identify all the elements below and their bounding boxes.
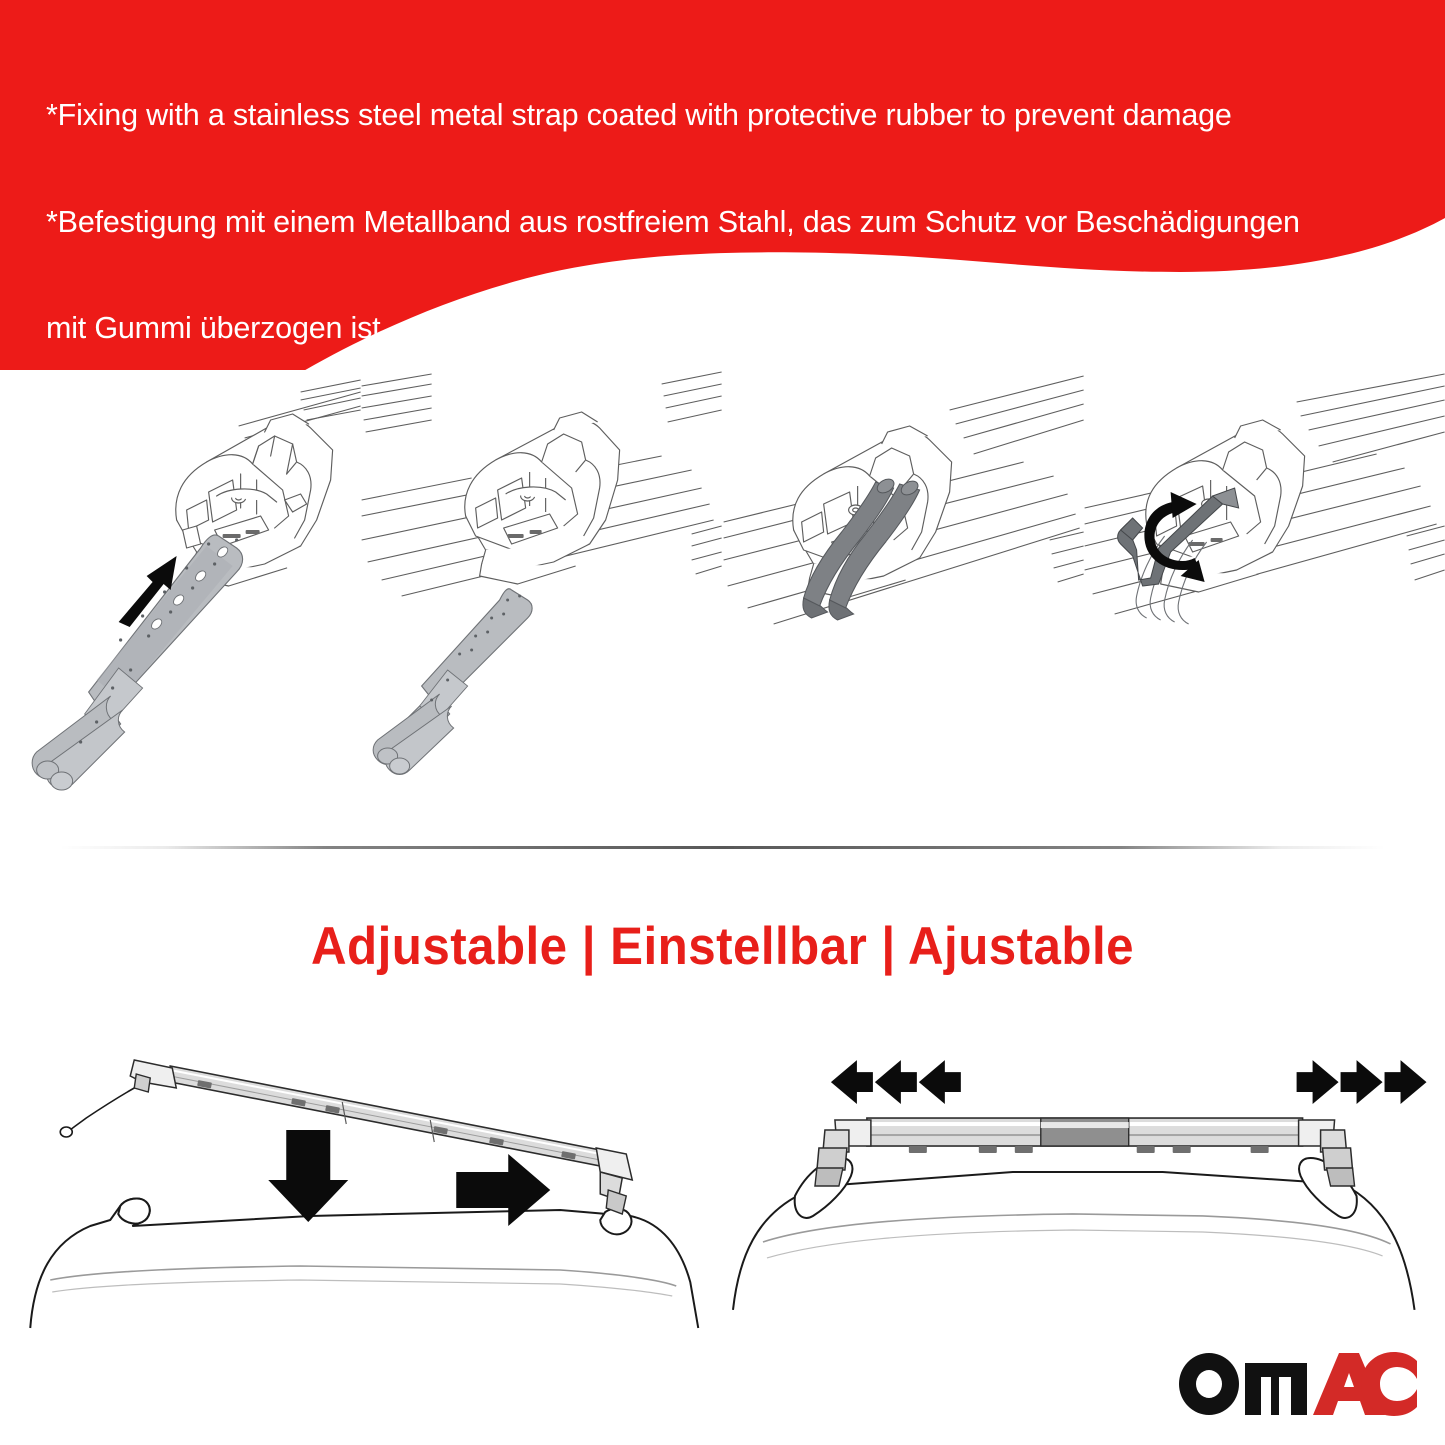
banner-line-de-1: *Befestigung mit einem Metallband aus ro… — [46, 205, 1416, 241]
product-info-page: *Fixing with a stainless steel metal str… — [0, 0, 1445, 1445]
red-banner: *Fixing with a stainless steel metal str… — [0, 0, 1445, 370]
omac-logo — [1167, 1351, 1417, 1417]
triple-left-arrow-icon — [830, 1060, 960, 1104]
car-roof-icon — [30, 1199, 698, 1328]
logo-letter-m — [1245, 1363, 1307, 1415]
section-divider — [60, 846, 1385, 849]
rack-foot-icon — [465, 412, 620, 584]
installation-step-3 — [723, 370, 1084, 820]
omac-logo-mark — [1167, 1351, 1417, 1417]
step-1-illustration — [0, 370, 361, 820]
adjustable-diagrams-row — [0, 1030, 1445, 1330]
height-slide-illustration — [0, 1030, 723, 1330]
installation-step-2 — [361, 370, 722, 820]
step-4-illustration — [1084, 370, 1445, 820]
step-2-illustration — [361, 370, 722, 820]
installation-step-1 — [0, 370, 361, 820]
installation-steps-row — [0, 370, 1445, 820]
diagram-height-and-slide-adjust — [0, 1030, 723, 1330]
adjustable-heading: Adjustable | Einstellbar | Ajustable — [51, 916, 1395, 977]
down-arrow-icon — [268, 1130, 348, 1222]
installation-step-4 — [1084, 370, 1445, 820]
banner-line-en: *Fixing with a stainless steel metal str… — [46, 98, 1416, 134]
triple-right-arrow-icon — [1296, 1060, 1426, 1104]
metal-strap-icon — [32, 535, 243, 790]
banner-line-de-2: mit Gummi überzogen ist — [46, 311, 1416, 347]
step-3-illustration — [723, 370, 1084, 820]
metal-strap-icon — [373, 589, 532, 775]
width-adjust-illustration — [723, 1030, 1445, 1330]
diagram-width-adjust — [723, 1030, 1445, 1330]
logo-letter-o — [1179, 1353, 1239, 1415]
